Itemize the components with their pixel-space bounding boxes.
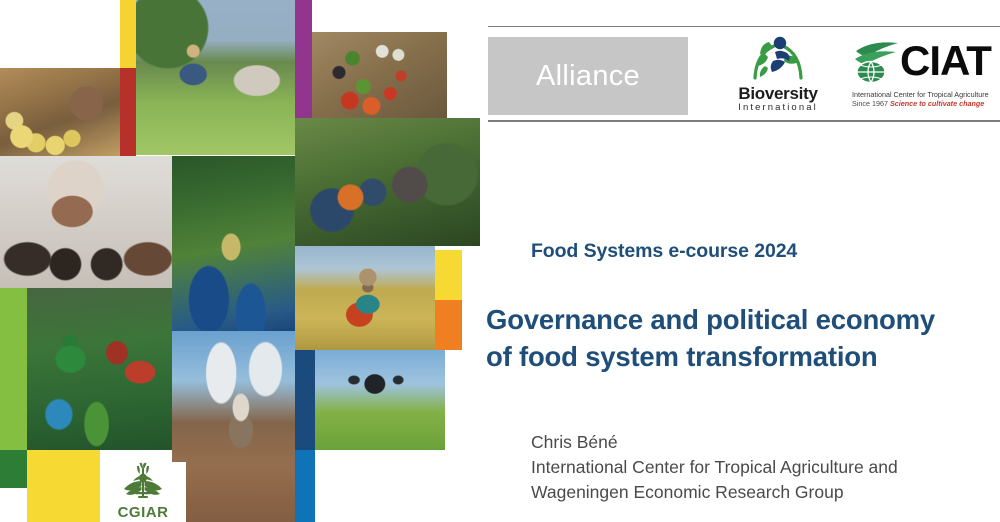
- collage-white-block-topleft: [0, 0, 120, 68]
- laboratory-photo: [0, 156, 172, 288]
- ciat-slogan-line: Since 1967 Science to cultivate change: [852, 99, 1000, 108]
- bioversity-subtitle: International: [738, 103, 818, 113]
- ciat-logo: CIAT International Center for Tropical A…: [852, 34, 1000, 120]
- title-line-1: Governance and political economy: [486, 302, 992, 339]
- drone-rice-photo: [315, 350, 445, 450]
- collage-white-block-right: [462, 246, 480, 350]
- collage-accent-dark-green: [0, 450, 27, 488]
- affiliation-line-1: International Center for Tropical Agricu…: [531, 455, 991, 480]
- collage-accent-navy: [295, 350, 315, 450]
- vegetables-photo: [312, 32, 447, 120]
- aerial-landscape-photo: [172, 156, 295, 331]
- collage-accent-blue: [295, 450, 315, 522]
- ciat-wordmark: CIAT: [900, 40, 991, 82]
- bioversity-leaf-figure-icon: [747, 34, 809, 84]
- affiliation-line-2: Wageningen Economic Research Group: [531, 480, 991, 505]
- collage-accent-light-green: [0, 288, 27, 450]
- logo-header: Alliance Bioversity International: [480, 26, 1000, 124]
- cgiar-wordmark: CGIAR: [118, 505, 169, 520]
- header-rule-top: [488, 26, 1000, 27]
- soil-farmer-photo: [172, 331, 295, 522]
- alliance-label: Alliance: [536, 60, 640, 93]
- collage-white-block-bottom: [315, 450, 480, 522]
- ciat-globe-leaf-icon: [852, 38, 902, 84]
- bioversity-name: Bioversity: [738, 85, 817, 102]
- collage-white-block-top: [312, 0, 480, 32]
- presentation-title-slide: CGIAR Alliance Bioversity International: [0, 0, 1000, 522]
- cattle-herder-photo: [136, 0, 295, 155]
- collage-accent-yellow-bottom: [27, 450, 100, 522]
- collage-accent-orange: [435, 300, 462, 350]
- collage-accent-yellow-top: [120, 0, 136, 68]
- cgiar-wheat-emblem-icon: [121, 462, 165, 504]
- alliance-logo-box: Alliance: [488, 37, 688, 115]
- field-training-photo: [295, 118, 480, 246]
- ciat-tagline: International Center for Tropical Agricu…: [852, 90, 1000, 99]
- author-name: Chris Béné: [531, 430, 991, 455]
- header-rule-bottom: [488, 120, 1000, 122]
- page-title: Governance and political economy of food…: [486, 302, 992, 375]
- bananas-woman-photo: [0, 68, 120, 156]
- photo-collage: CGIAR: [0, 0, 480, 522]
- bioversity-logo: Bioversity International: [718, 34, 838, 118]
- collage-white-block-bottomleft: [0, 488, 27, 522]
- course-label: Food Systems e-course 2024: [531, 240, 797, 263]
- cgiar-logo: CGIAR: [100, 462, 186, 522]
- collage-white-block-topright: [447, 32, 480, 120]
- collage-accent-red: [120, 68, 136, 156]
- collage-accent-purple: [295, 0, 312, 118]
- collage-accent-yellow-right: [435, 250, 462, 300]
- market-vendor-photo: [27, 288, 172, 450]
- author-block: Chris Béné International Center for Trop…: [531, 430, 991, 505]
- title-line-2: of food system transformation: [486, 339, 992, 376]
- quinoa-farmer-photo: [295, 246, 435, 350]
- ciat-slogan: Science to cultivate change: [890, 99, 984, 108]
- ciat-since: Since 1967: [852, 99, 888, 108]
